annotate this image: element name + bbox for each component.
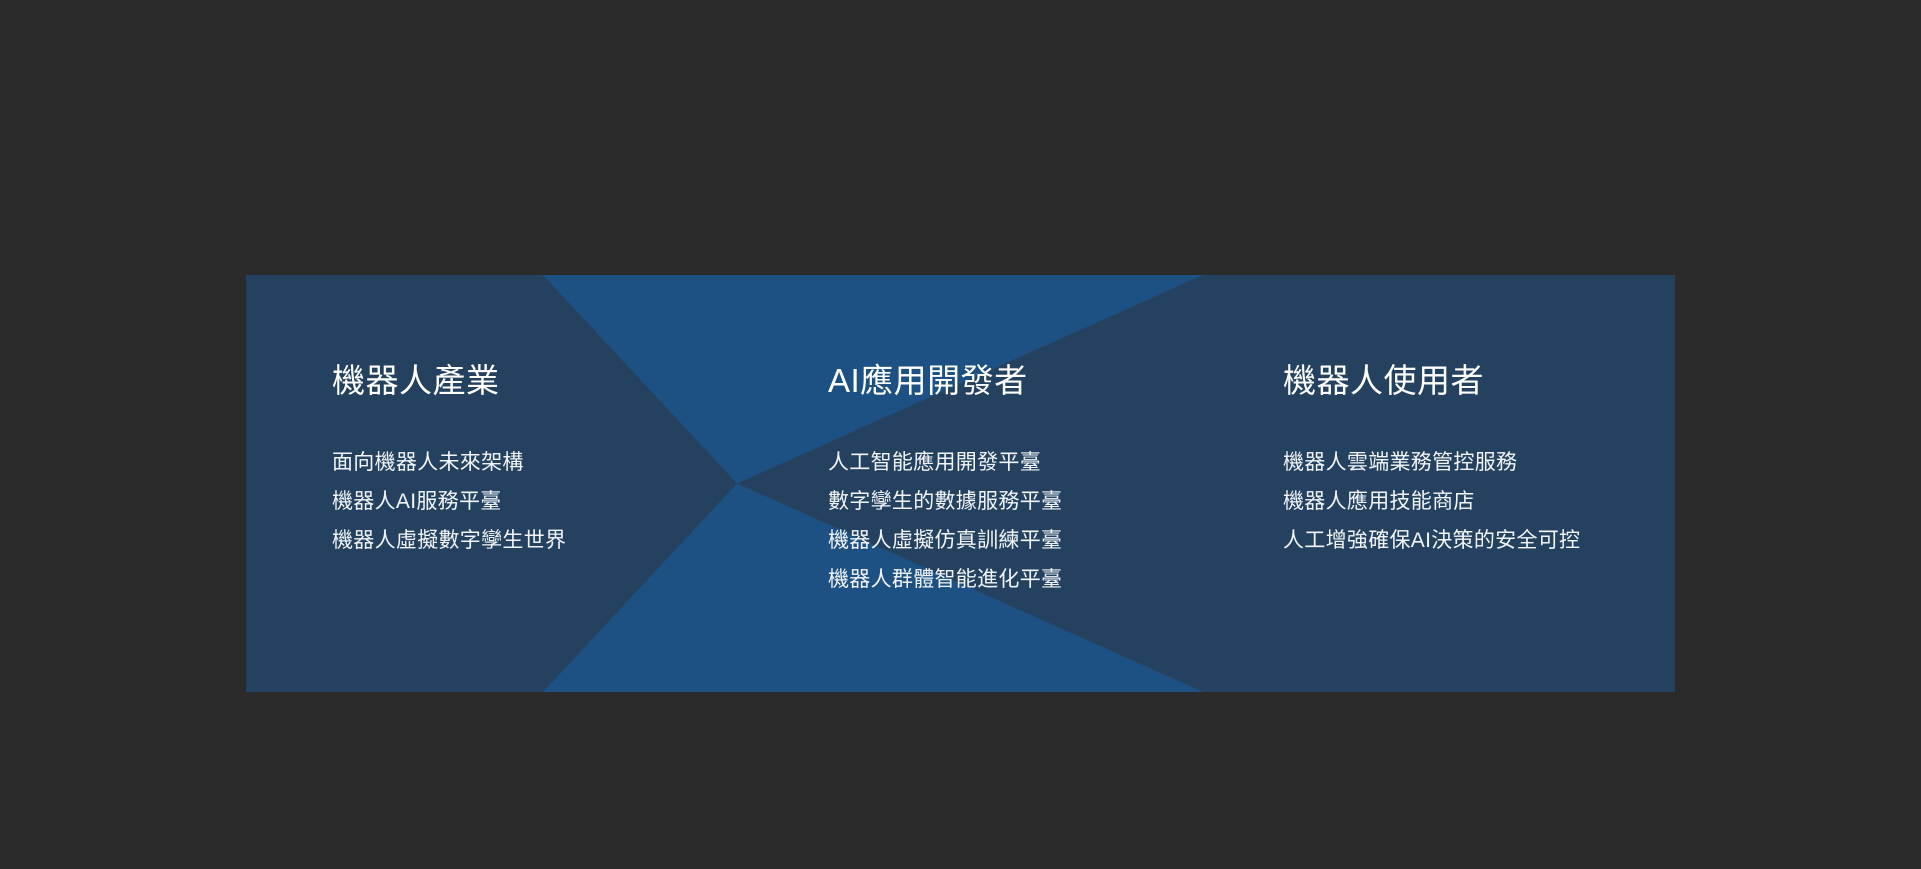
list-item: 機器人虛擬仿真訓練平臺 xyxy=(828,521,1062,560)
stage-panel-robot-user: 機器人使用者 機器人雲端業務管控服務 機器人應用技能商店 人工增強確保AI決策的… xyxy=(1283,275,1675,692)
list-item: 機器人虛擬數字孿生世界 xyxy=(332,521,566,560)
stage-3-heading: 機器人使用者 xyxy=(1283,363,1484,400)
stage-2-item-list: 人工智能應用開發平臺 數字孿生的數據服務平臺 機器人虛擬仿真訓練平臺 機器人群體… xyxy=(828,443,1062,599)
list-item: 面向機器人未來架構 xyxy=(332,443,566,482)
stage-2-heading: AI應用開發者 xyxy=(828,363,1028,400)
list-item: 人工智能應用開發平臺 xyxy=(828,443,1062,482)
stage-panel-robot-industry: 機器人產業 面向機器人未來架構 機器人AI服務平臺 機器人虛擬數字孿生世界 xyxy=(246,275,806,692)
stage-1-item-list: 面向機器人未來架構 機器人AI服務平臺 機器人虛擬數字孿生世界 xyxy=(332,443,566,560)
list-item: 機器人應用技能商店 xyxy=(1283,482,1580,521)
list-item: 數字孿生的數據服務平臺 xyxy=(828,482,1062,521)
chevron-process-diagram: 機器人產業 面向機器人未來架構 機器人AI服務平臺 機器人虛擬數字孿生世界 AI… xyxy=(246,275,1675,692)
stage-3-item-list: 機器人雲端業務管控服務 機器人應用技能商店 人工增強確保AI決策的安全可控 xyxy=(1283,443,1580,560)
list-item: 機器人AI服務平臺 xyxy=(332,482,566,521)
stage-panel-ai-developer: AI應用開發者 人工智能應用開發平臺 數字孿生的數據服務平臺 機器人虛擬仿真訓練… xyxy=(828,275,1288,692)
list-item: 機器人雲端業務管控服務 xyxy=(1283,443,1580,482)
list-item: 人工增強確保AI決策的安全可控 xyxy=(1283,521,1580,560)
stage-1-heading: 機器人產業 xyxy=(332,363,500,400)
list-item: 機器人群體智能進化平臺 xyxy=(828,560,1062,599)
